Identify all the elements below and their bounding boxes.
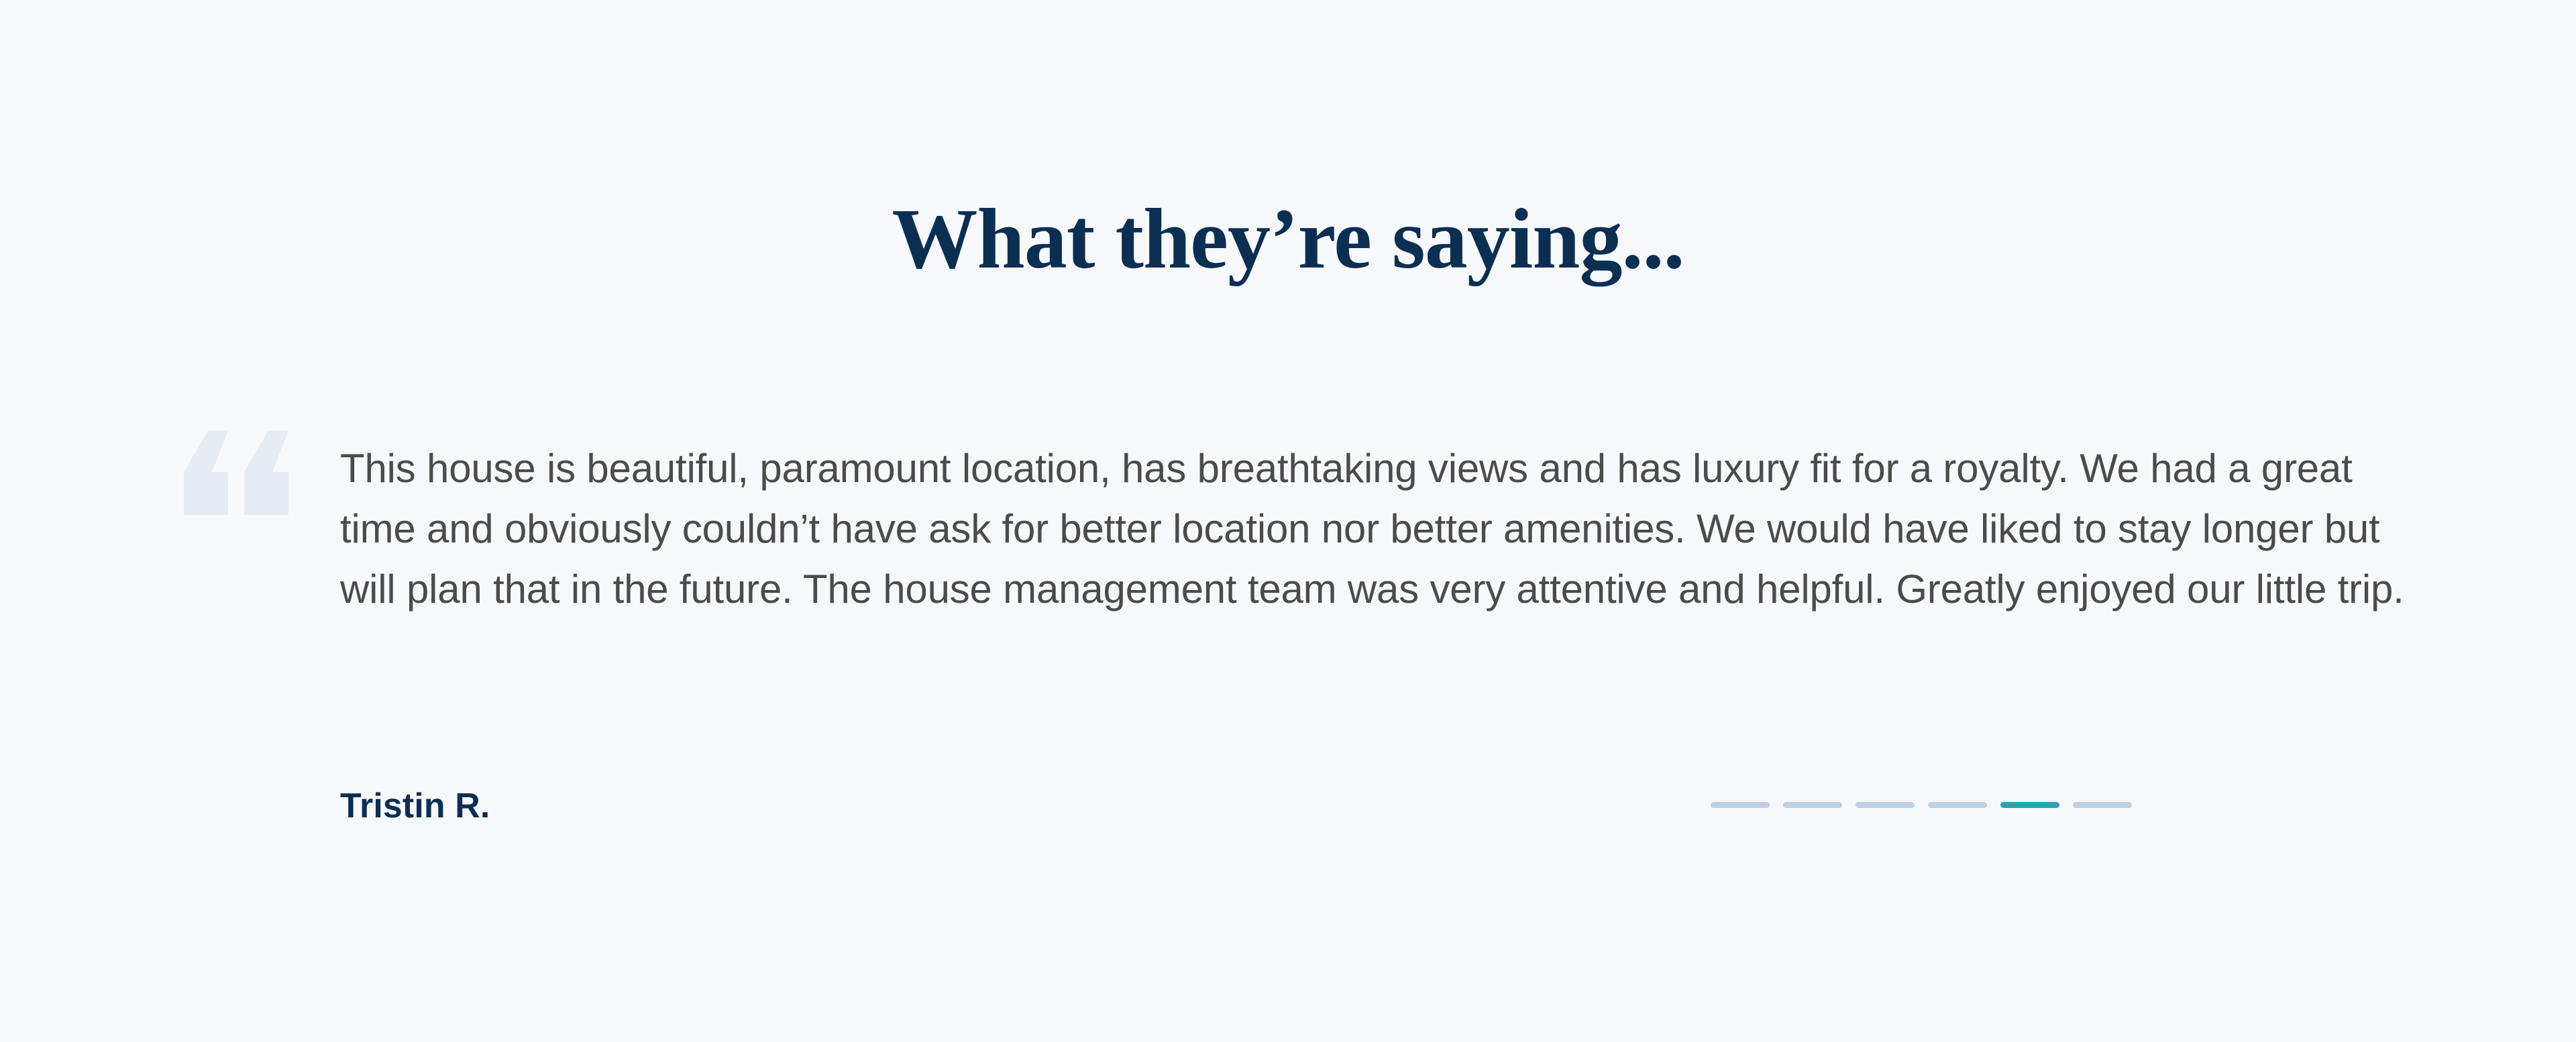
pagination-dot-2[interactable]: [1783, 802, 1842, 808]
testimonial-section: What they’re saying... This house is bea…: [0, 0, 2576, 1042]
double-quote-open-icon: [181, 429, 302, 516]
page-title: What they’re saying...: [0, 196, 2576, 282]
pagination-dot-4[interactable]: [1928, 802, 1987, 808]
carousel-pagination[interactable]: [1711, 802, 2416, 808]
pagination-dot-1[interactable]: [1711, 802, 1770, 808]
testimonial-author-name: Tristin R.: [340, 786, 490, 826]
testimonial-quote-text: This house is beautiful, paramount locat…: [340, 439, 2416, 620]
testimonial-footer: Tristin R.: [181, 778, 2415, 838]
pagination-dot-3[interactable]: [1856, 802, 1915, 808]
pagination-dot-6[interactable]: [2073, 802, 2132, 808]
pagination-dot-5[interactable]: [2000, 802, 2059, 808]
